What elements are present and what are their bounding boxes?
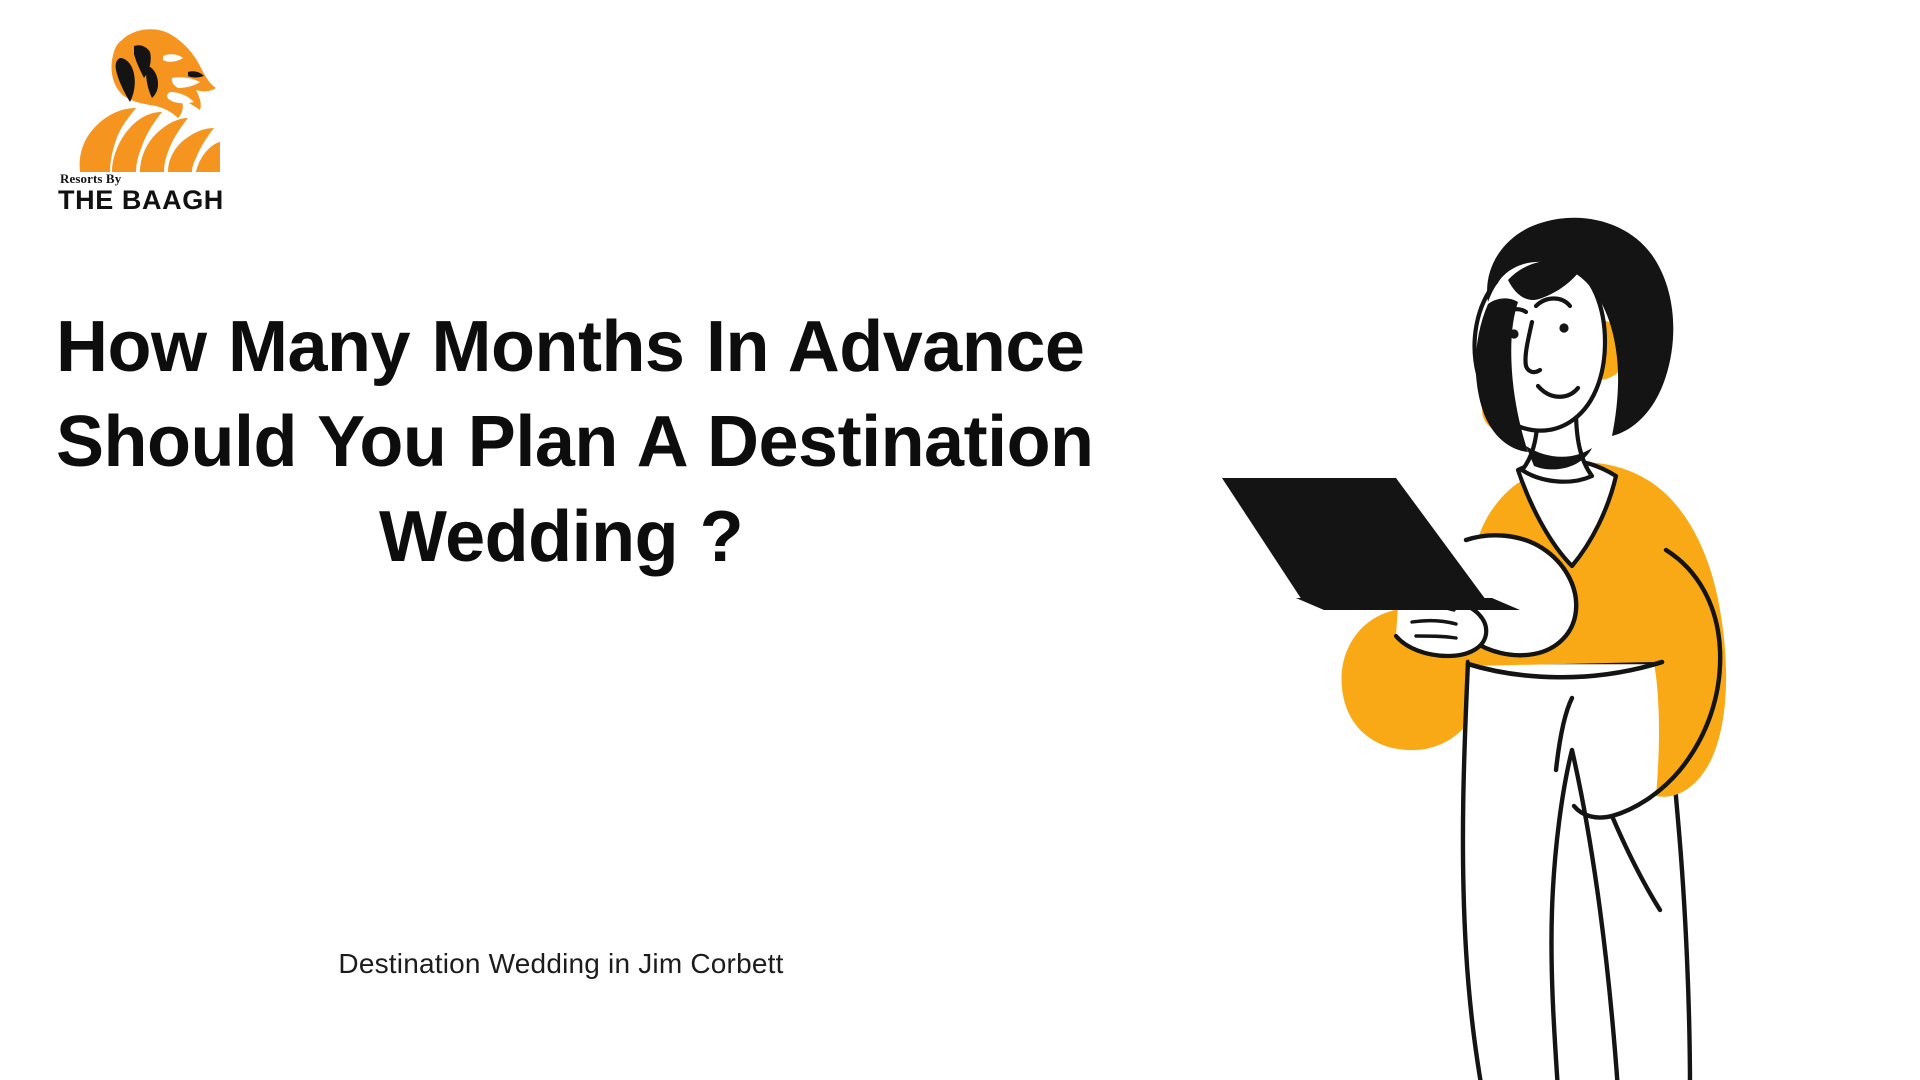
- brand-logo-block[interactable]: Resorts By THE BAAGH: [52, 22, 232, 212]
- headline-line-2: Should You Plan A Destination: [56, 395, 1066, 490]
- slide-canvas: Resorts By THE BAAGH How Many Months In …: [0, 0, 1920, 1080]
- page-title: How Many Months In Advance Should You Pl…: [56, 300, 1066, 585]
- brand-tagline: Resorts By: [60, 172, 121, 185]
- brand-name: THE BAAGH: [58, 186, 224, 214]
- headline-line-1: How Many Months In Advance: [56, 300, 1066, 395]
- woman-holding-laptop-illustration: [1220, 210, 1920, 1080]
- subtitle-text: Destination Wedding in Jim Corbett: [56, 948, 1066, 980]
- tiger-head-logo-icon: [60, 22, 220, 172]
- headline-block: How Many Months In Advance Should You Pl…: [56, 300, 1066, 585]
- headline-line-3: Wedding ?: [56, 490, 1066, 585]
